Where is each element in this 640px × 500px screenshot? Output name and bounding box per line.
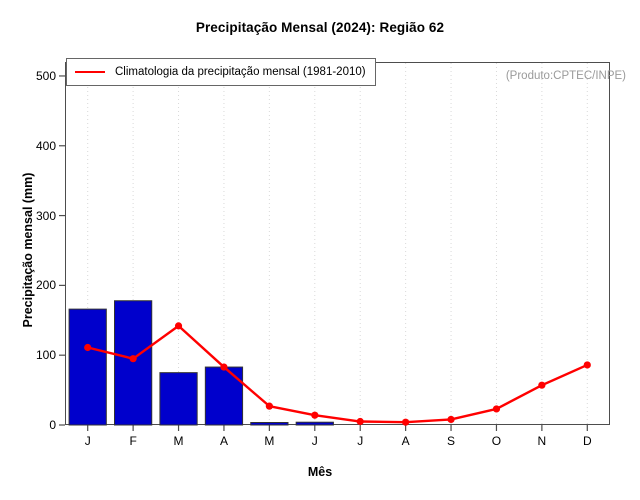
line-marker [447, 416, 454, 423]
bar [69, 309, 106, 425]
x-axis-tick-label: J [340, 434, 380, 448]
x-axis-tick-label: F [113, 434, 153, 448]
line-marker [220, 363, 227, 370]
line-marker [311, 412, 318, 419]
x-axis-tick-label: N [522, 434, 562, 448]
x-axis-tick-label: O [476, 434, 516, 448]
bar-series [69, 301, 333, 425]
bar [115, 301, 152, 425]
line-marker [584, 361, 591, 368]
chart-figure: Precipitação Mensal (2024): Região 62 01… [0, 0, 640, 500]
line-marker [357, 418, 364, 425]
legend-line-swatch-icon [75, 71, 105, 73]
chart-legend: Climatologia da precipitação mensal (198… [66, 58, 376, 86]
x-axis-tick-label: D [567, 434, 607, 448]
line-marker [538, 382, 545, 389]
line-marker [84, 344, 91, 351]
line-marker [130, 355, 137, 362]
gridlines-group [88, 63, 588, 424]
x-axis-tick-labels: JFMAMJJASOND [0, 434, 640, 454]
line-marker [402, 419, 409, 426]
bar [160, 373, 197, 425]
product-watermark: (Produto:CPTEC/INPE) [506, 70, 626, 82]
bar [296, 422, 333, 425]
y-axis-tick-label: 0 [12, 418, 56, 432]
bar [205, 367, 242, 425]
x-axis-tick-label: A [204, 434, 244, 448]
x-axis-label: Mês [0, 465, 640, 479]
bar [251, 423, 288, 426]
y-axis-tick-label: 500 [12, 69, 56, 83]
line-marker [175, 322, 182, 329]
x-axis-tick-label: M [249, 434, 289, 448]
legend-item-label: Climatologia da precipitação mensal (198… [115, 66, 366, 78]
x-axis-tick-label: J [295, 434, 335, 448]
x-axis-tick-label: A [386, 434, 426, 448]
y-axis-ticks [59, 76, 65, 425]
x-axis-tick-label: M [159, 434, 199, 448]
line-marker [266, 403, 273, 410]
x-axis-tick-label: S [431, 434, 471, 448]
x-axis-tick-label: J [68, 434, 108, 448]
y-axis-label: Precipitação mensal (mm) [21, 130, 35, 370]
x-axis-ticks [88, 425, 588, 431]
line-marker [493, 405, 500, 412]
